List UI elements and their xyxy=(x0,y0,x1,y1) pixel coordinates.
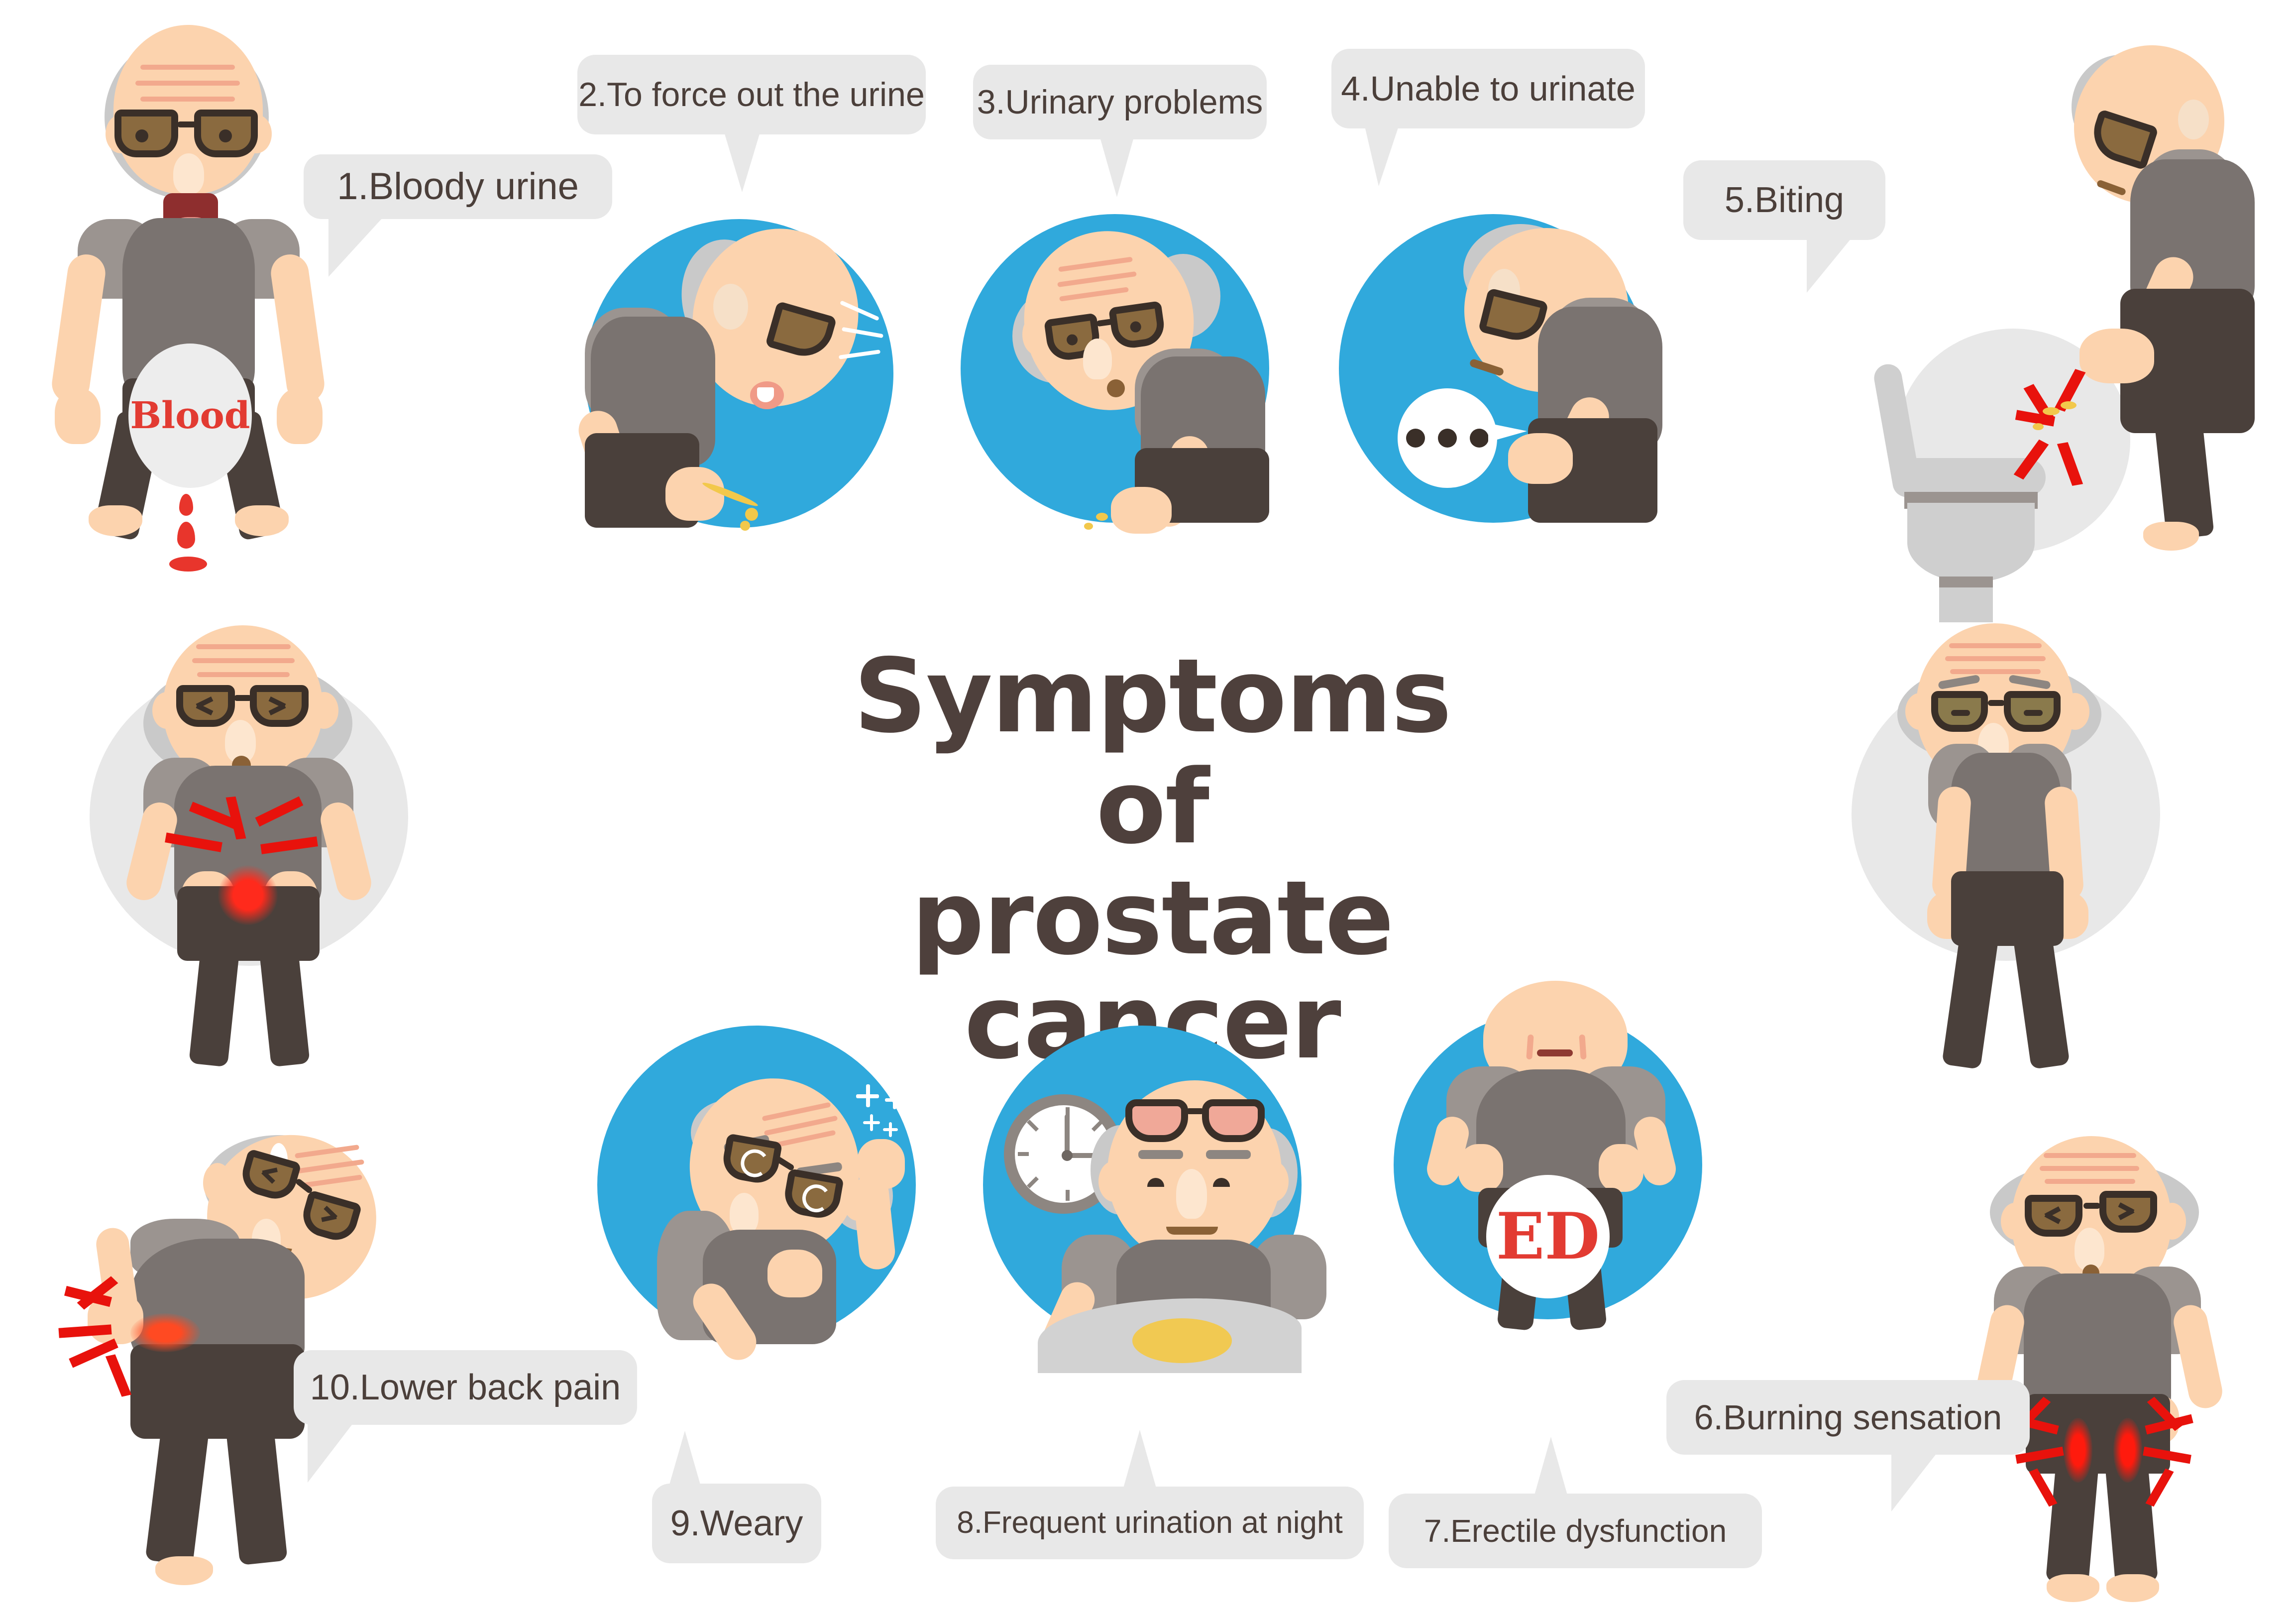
mouth xyxy=(1537,1049,1573,1056)
eyebrow-left xyxy=(1138,1150,1183,1159)
blood-pool xyxy=(169,557,207,572)
symptom-4-illustration xyxy=(1339,214,1647,523)
symptom-10-text: 10.Lower back pain xyxy=(310,1370,621,1405)
symptom-5-label[interactable]: 5.Biting xyxy=(1683,160,1885,240)
arm-right xyxy=(2171,1302,2225,1411)
foot-right xyxy=(2106,1574,2159,1602)
forehead-wrinkle xyxy=(135,81,240,86)
ear xyxy=(2178,100,2209,139)
hand-right xyxy=(1599,1144,1643,1192)
hand xyxy=(1111,487,1172,534)
mouth xyxy=(1107,379,1125,397)
title-line-1: Symptoms xyxy=(717,645,1588,749)
urine-drop xyxy=(2043,407,2060,415)
symptom-6-illustration xyxy=(1941,1145,2296,1603)
symptom-4-label[interactable]: 4.Unable to urinate xyxy=(1331,49,1645,128)
dot xyxy=(1470,429,1489,448)
forehead-wrinkle xyxy=(2044,1153,2136,1158)
hand xyxy=(2079,329,2154,383)
teeth xyxy=(757,387,774,402)
ear-right xyxy=(2158,1203,2186,1240)
symptom-2-label[interactable]: 2.To force out the urine xyxy=(577,55,926,134)
symptom-3-illustration xyxy=(961,214,1269,523)
blood-drop xyxy=(177,522,195,549)
ear-right xyxy=(310,692,338,729)
forehead-wrinkle xyxy=(192,658,295,663)
hand-chest xyxy=(767,1250,822,1297)
forehead-wrinkle xyxy=(2040,1166,2139,1171)
ear-right xyxy=(1258,1161,1289,1202)
forehead-wrinkle xyxy=(140,97,235,102)
symptom-8-illustration xyxy=(983,1026,1312,1354)
ear-left xyxy=(691,1139,721,1178)
ear-left xyxy=(1098,1161,1129,1202)
foot xyxy=(155,1556,213,1585)
symptom-9-text: 9.Weary xyxy=(670,1505,803,1541)
dot xyxy=(1438,429,1457,448)
symptom-1-tail xyxy=(328,217,383,277)
sparkle-icon xyxy=(885,1090,904,1109)
speech-dots-tail xyxy=(1488,423,1527,442)
ear-right xyxy=(2061,693,2089,730)
symptom-10-label[interactable]: 10.Lower back pain xyxy=(294,1350,637,1425)
ear xyxy=(713,284,748,330)
urine-drop xyxy=(745,508,758,521)
symptom-7-tail xyxy=(1534,1437,1568,1497)
hand xyxy=(665,467,724,521)
symptom-8-label[interactable]: 8.Frequent urination at night xyxy=(936,1487,1364,1559)
urine-drop xyxy=(1084,523,1093,530)
urine-drop xyxy=(2061,401,2077,409)
clock-center xyxy=(1062,1150,1073,1161)
sparkle-icon xyxy=(883,1122,898,1137)
blood-badge: Blood xyxy=(128,344,252,488)
sparkle-icon xyxy=(856,1084,879,1107)
symptom-7-text: 7.Erectile dysfunction xyxy=(1424,1515,1727,1547)
hand-raised xyxy=(857,1139,905,1189)
symptom-9-tail xyxy=(668,1431,702,1490)
foot-left xyxy=(2047,1574,2099,1602)
speech-dots-bubble xyxy=(1398,388,1497,488)
dot xyxy=(1406,429,1425,448)
symptom-2-text: 2.To force out the urine xyxy=(578,78,925,112)
symptom-10-tail xyxy=(308,1423,353,1483)
ear xyxy=(203,1163,232,1203)
symptom-4-text: 4.Unable to urinate xyxy=(1341,71,1636,106)
symptom-3-text: 3.Urinary problems xyxy=(977,85,1263,119)
foot-right xyxy=(235,505,289,536)
pain-bolt xyxy=(2029,1469,2057,1507)
nose xyxy=(173,153,204,194)
forehead-wrinkle xyxy=(1950,669,2041,674)
foot xyxy=(2143,522,2199,551)
urine-drop xyxy=(2033,423,2044,430)
symptom-9-label[interactable]: 9.Weary xyxy=(652,1484,821,1563)
symptom-1-label[interactable]: 1.Bloody urine xyxy=(304,154,612,219)
blood-badge-label: Blood xyxy=(130,397,250,434)
symptom-9-illustration xyxy=(597,1026,916,1344)
ear-left xyxy=(1905,693,1934,730)
foot-left xyxy=(89,505,142,536)
symptom-4-tail xyxy=(1365,126,1399,186)
arm-left xyxy=(49,252,108,405)
ed-badge: ED xyxy=(1486,1175,1610,1298)
forehead-wrinkle xyxy=(197,672,290,677)
symptom-8-tail xyxy=(1123,1430,1157,1490)
symptom-1-text: 1.Bloody urine xyxy=(337,168,579,206)
burning-glow xyxy=(2064,1418,2092,1483)
symptom-5-text: 5.Biting xyxy=(1725,182,1844,218)
arm-right xyxy=(268,252,327,405)
forehead-wrinkle xyxy=(196,644,291,649)
forehead-wrinkle xyxy=(1949,643,2042,648)
symptom-7-label[interactable]: 7.Erectile dysfunction xyxy=(1389,1494,1762,1568)
forehead-wrinkle xyxy=(140,65,235,70)
symptom-3-tail xyxy=(1100,137,1134,197)
forehead-wrinkle xyxy=(1945,656,2046,661)
motion-lines xyxy=(834,307,893,371)
symptom-6-tail xyxy=(1891,1453,1937,1511)
symptom-6-label[interactable]: 6.Burning sensation xyxy=(1666,1380,2030,1455)
symptom-7-illustration: ED xyxy=(1394,1011,1712,1329)
hand-left xyxy=(55,388,101,444)
wet-stain xyxy=(1132,1318,1232,1363)
urine-drop xyxy=(740,521,750,531)
blood-drop xyxy=(179,494,193,516)
toilet-base xyxy=(1939,587,1993,622)
sparkle-icon xyxy=(863,1114,880,1131)
symptom-6-text: 6.Burning sensation xyxy=(1694,1400,2002,1435)
hand-right xyxy=(277,388,323,444)
symptom-5-tail xyxy=(1807,238,1852,293)
infographic-canvas: Blood 1.Bloody urine xyxy=(0,0,2296,1619)
nose xyxy=(2075,1228,2104,1271)
forehead-wrinkle xyxy=(2045,1179,2135,1184)
symptom-1-illustration: Blood xyxy=(30,20,338,528)
urine-drop xyxy=(1096,513,1108,521)
mouth-frown xyxy=(1166,1227,1218,1235)
eyebrow-right xyxy=(1206,1150,1251,1159)
symptom-2-tail xyxy=(724,132,760,192)
pain-glow xyxy=(130,1313,200,1352)
pelvic-pain-figure xyxy=(90,622,438,1070)
hand-left xyxy=(1458,1144,1503,1192)
title-line-2: of xyxy=(717,756,1588,860)
ed-badge-label: ED xyxy=(1496,1205,1600,1269)
toilet-bowl xyxy=(1907,503,2035,582)
sunglasses-on-forehead xyxy=(1125,1099,1265,1147)
symptom-8-text: 8.Frequent urination at night xyxy=(957,1507,1343,1538)
symptom-2-illustration xyxy=(585,219,893,528)
pain-glow xyxy=(218,865,278,925)
nose xyxy=(1083,339,1112,379)
tired-figure xyxy=(1842,622,2190,1070)
nose xyxy=(1176,1169,1207,1219)
symptom-5-illustration xyxy=(1842,20,2280,548)
burning-glow xyxy=(2113,1418,2142,1483)
nose xyxy=(730,1193,759,1235)
pants xyxy=(130,1344,305,1439)
symptom-3-label[interactable]: 3.Urinary problems xyxy=(973,65,1267,139)
pain-bolt xyxy=(106,1354,131,1396)
